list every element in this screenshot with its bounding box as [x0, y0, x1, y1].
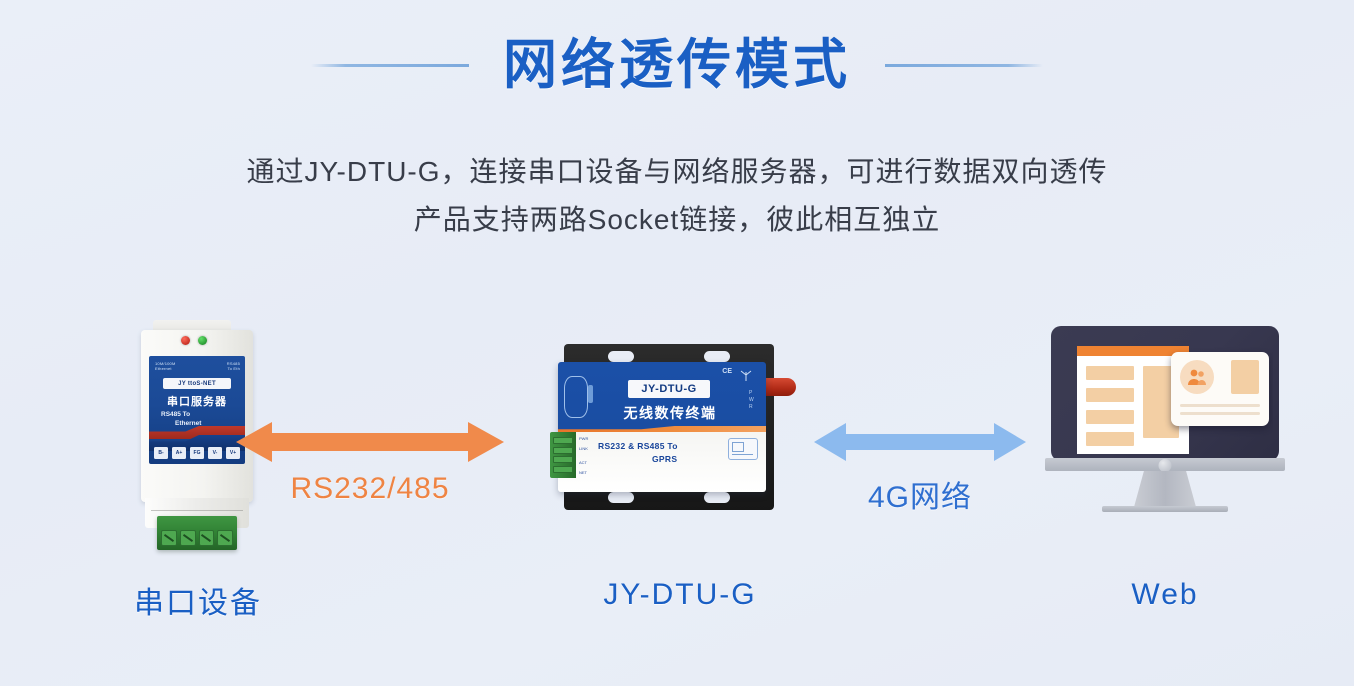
page-list-rows [1086, 366, 1134, 446]
topology-diagram: 10M/100MEthernet RS485To Eth JY ttoS-NET… [0, 320, 1354, 686]
monitor-power-button-icon [1159, 459, 1172, 472]
subtitle-line-2: 产品支持两路Socket链接，彼此相互独立 [0, 196, 1354, 244]
users-icon [1186, 368, 1208, 386]
dtu-enclosure: CE PWR JY-DTU-G 无线数传终端 PWR LINK ACT NET [558, 362, 766, 492]
screen-floating-card [1171, 352, 1269, 426]
port-label: V- [208, 447, 222, 459]
bracket-hole [608, 351, 634, 362]
card-text-line [1180, 412, 1260, 415]
list-item [1086, 388, 1134, 402]
terminal-screw [161, 530, 177, 546]
page-title: 网络透传模式 [503, 38, 851, 92]
subtitle-line-1: 通过JY-DTU-G，连接串口设备与网络服务器，可进行数据双向透传 [0, 148, 1354, 196]
dtu-en-line-2: GPRS [598, 453, 730, 466]
status-led-label: ACT [579, 460, 587, 465]
monitor-base [1102, 506, 1228, 512]
terminal-screw [553, 466, 573, 473]
port-label: A+ [172, 447, 186, 459]
port-label: B- [154, 447, 168, 459]
terminal-screw [553, 447, 573, 454]
terminal-screw [217, 530, 233, 546]
node-label-web: Web [1131, 578, 1198, 612]
serial-server-port-labels: B- A+ FG V- V+ [154, 447, 240, 459]
db9-connector-icon [564, 376, 588, 418]
serial-server-tiny-text-right: RS485To Eth [227, 361, 240, 371]
list-item [1086, 410, 1134, 424]
connection-rs232-485: RS232/485 [230, 420, 510, 506]
serial-server-tiny-text-left: 10M/100MEthernet [155, 361, 176, 371]
bidirectional-arrow-icon [236, 420, 504, 464]
avatar [1180, 360, 1214, 394]
connection-4g-network: 4G网络 [800, 420, 1040, 516]
bidirectional-arrow-icon [814, 420, 1026, 464]
serial-server-brand-pill: JY ttoS-NET [163, 378, 231, 389]
dtu-orange-divider [558, 426, 766, 432]
ce-mark-label: CE [722, 368, 732, 375]
monitor-stand [1134, 471, 1196, 507]
monitor-illustration [1041, 320, 1289, 542]
card-thumbnail-block [1231, 360, 1259, 394]
monitor-bezel [1051, 326, 1279, 461]
header-decoration-line-right [885, 64, 1043, 67]
card-text-line [1180, 404, 1260, 407]
serial-server-en-text: RS485 To Ethernet [161, 410, 237, 428]
page-header: 网络透传模式 [0, 0, 1354, 130]
monitor-screen [1077, 346, 1273, 454]
connection-label-rs232-485: RS232/485 [290, 472, 449, 506]
sim-card-slot-icon [728, 438, 758, 460]
dtu-side-tiny-text: PWR [749, 390, 754, 411]
bracket-hole [704, 351, 730, 362]
serial-server-cn-name: 串口服务器 [149, 393, 245, 409]
serial-server-led-strip [181, 334, 225, 346]
power-led-icon [181, 336, 190, 345]
status-led-label: NET [579, 470, 587, 475]
node-label-jy-dtu-g: JY-DTU-G [603, 578, 756, 612]
list-item [1086, 366, 1134, 380]
list-item [1086, 432, 1134, 446]
terminal-screw [199, 530, 215, 546]
serial-server-terminal-block [157, 516, 237, 550]
connection-label-4g-network: 4G网络 [868, 472, 972, 516]
signal-antenna-icon [738, 370, 754, 382]
status-led-label: LINK [579, 446, 588, 451]
dtu-terminal-block [550, 432, 576, 478]
terminal-screw [553, 437, 573, 444]
dtu-cn-name: 无线数传终端 [602, 403, 738, 423]
header-decoration-line-left [311, 64, 469, 67]
dtu-brand-pill: JY-DTU-G [628, 380, 710, 398]
terminal-screw [180, 530, 196, 546]
dtu-en-line-1: RS232 & RS485 To [598, 440, 730, 453]
diagram-node-web: Web [1020, 320, 1310, 612]
dtu-en-text: RS232 & RS485 To GPRS [598, 440, 730, 466]
diagram-node-jy-dtu-g: CE PWR JY-DTU-G 无线数传终端 PWR LINK ACT NET [520, 320, 840, 612]
port-label: FG [190, 447, 204, 459]
serial-server-en-line-1: RS485 To [161, 410, 237, 419]
link-led-icon [198, 336, 207, 345]
terminal-screw [553, 456, 573, 463]
bracket-hole [704, 492, 730, 503]
node-label-serial-device: 串口设备 [134, 578, 262, 622]
status-led-label: PWR [579, 436, 588, 441]
bracket-hole [608, 492, 634, 503]
page-subtitle: 通过JY-DTU-G，连接串口设备与网络服务器，可进行数据双向透传 产品支持两路… [0, 148, 1354, 244]
dtu-illustration: CE PWR JY-DTU-G 无线数传终端 PWR LINK ACT NET [550, 320, 810, 542]
